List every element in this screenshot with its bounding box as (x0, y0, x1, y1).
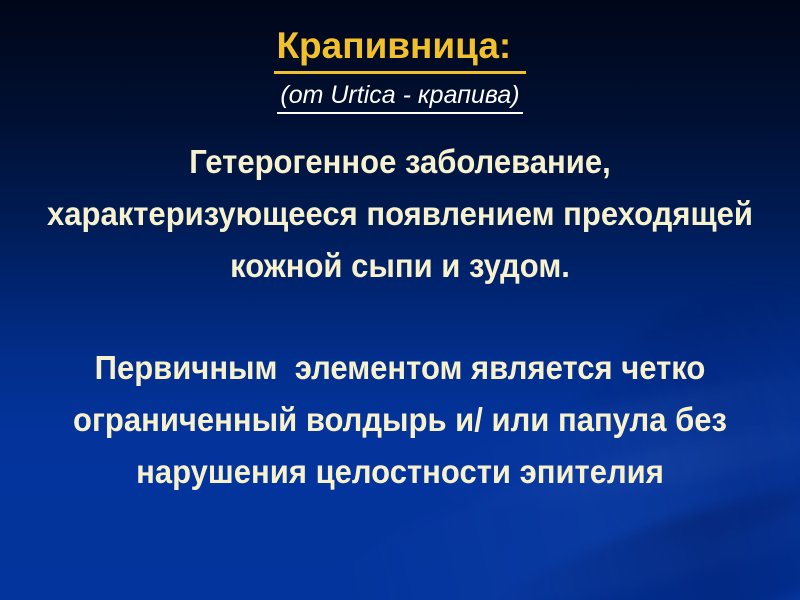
body-paragraph-primary-element: Первичным элементом является четко огран… (24, 342, 776, 498)
slide-subtitle: (от Urtica - крапива) (277, 81, 522, 114)
slide-title: Крапивница: (274, 24, 525, 74)
presentation-slide: Крапивница: (от Urtica - крапива) Гетеро… (0, 0, 800, 600)
paragraph-spacer (0, 292, 800, 342)
slide-body: Гетерогенное заболевание, характеризующе… (0, 136, 800, 498)
subtitle-wrapper: (от Urtica - крапива) (0, 81, 800, 114)
body-paragraph-definition: Гетерогенное заболевание, характеризующе… (24, 136, 776, 292)
slide-content: Крапивница: (от Urtica - крапива) Гетеро… (0, 0, 800, 600)
title-block: Крапивница: (от Urtica - крапива) (0, 24, 800, 114)
